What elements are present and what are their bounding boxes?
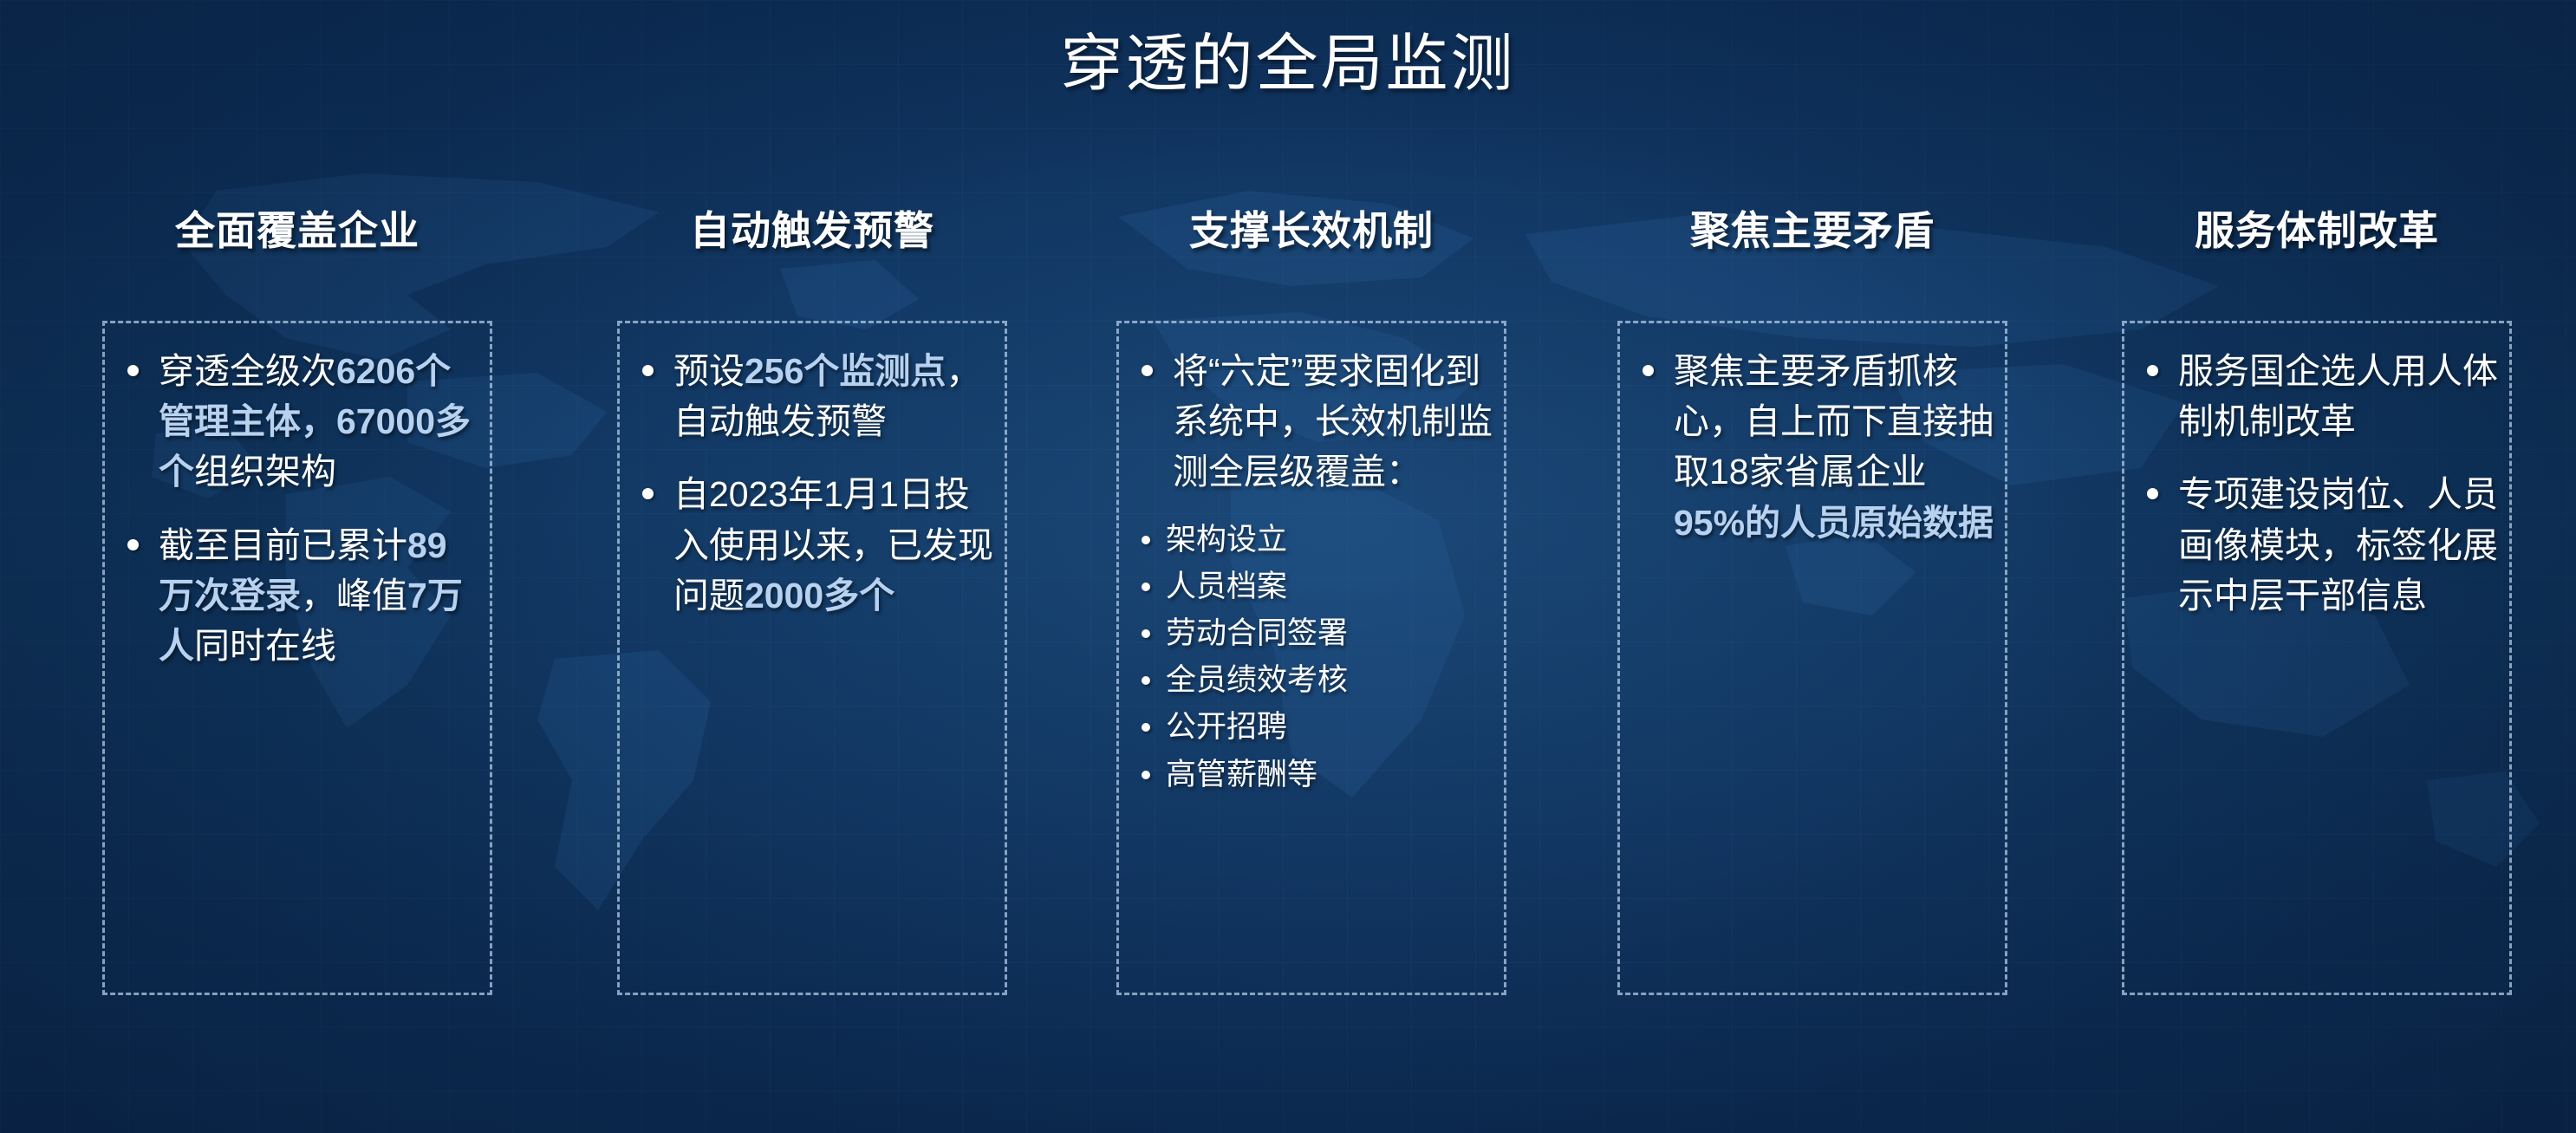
column-content-box: 穿透全级次6206个管理主体，67000多个组织架构 截至目前已累计89万次登录… — [102, 321, 492, 995]
list-item: 将“六定”要求固化到系统中，长效机制监测全层级覆盖： — [1128, 346, 1495, 498]
column-content-box: 预设256个监测点，自动触发预警 自2023年1月1日投入使用以来，已发现问题2… — [617, 321, 1007, 995]
list-item: 穿透全级次6206个管理主体，67000多个组织架构 — [114, 346, 481, 498]
list-item: 聚焦主要矛盾抓核心，自上而下直接抽取18家省属企业95%的人员原始数据 — [1629, 346, 1996, 548]
bullet-text: 专项建设岗位、人员画像模块，标签化展示中层干部信息 — [2178, 474, 2498, 615]
list-item: 预设256个监测点，自动触发预警 — [628, 346, 996, 446]
bullet-text: 服务国企选人用人体制机制改革 — [2178, 351, 2498, 441]
column-header: 支撑长效机制 — [1116, 199, 1506, 257]
sub-list-item: 公开招聘 — [1128, 707, 1495, 747]
bullet-text: 预设256个监测点，自动触发预警 — [673, 351, 981, 441]
bullet-text: 将“六定”要求固化到系统中，长效机制监测全层级覆盖： — [1173, 351, 1493, 492]
column-header: 聚焦主要矛盾 — [1617, 199, 2007, 257]
list-item: 专项建设岗位、人员画像模块，标签化展示中层干部信息 — [2133, 469, 2501, 621]
bullet-text: 穿透全级次6206个管理主体，67000多个组织架构 — [159, 351, 471, 492]
column-content-box: 服务国企选人用人体制机制改革 专项建设岗位、人员画像模块，标签化展示中层干部信息 — [2122, 321, 2512, 995]
sub-list-item: 全员绩效考核 — [1128, 661, 1495, 700]
sub-list-item: 高管薪酬等 — [1128, 755, 1495, 795]
bullet-text: 截至目前已累计89万次登录，峰值7万人同时在线 — [159, 525, 463, 666]
list-item: 自2023年1月1日投入使用以来，已发现问题2000多个 — [628, 469, 996, 621]
bullet-text: 聚焦主要矛盾抓核心，自上而下直接抽取18家省属企业95%的人员原始数据 — [1674, 351, 1994, 543]
column-zidong-chufa-yujing: 自动触发预警 预设256个监测点，自动触发预警 自2023年1月1日投入使用以来… — [617, 199, 1007, 257]
column-content-box: 将“六定”要求固化到系统中，长效机制监测全层级覆盖： 架构设立人员档案劳动合同签… — [1116, 321, 1506, 995]
sub-list-item: 人员档案 — [1128, 567, 1495, 607]
bullet-list: 服务国企选人用人体制机制改革 专项建设岗位、人员画像模块，标签化展示中层干部信息 — [2133, 346, 2501, 621]
list-item: 服务国企选人用人体制机制改革 — [2133, 346, 2501, 446]
bullet-list: 穿透全级次6206个管理主体，67000多个组织架构 截至目前已累计89万次登录… — [114, 346, 481, 671]
list-item: 截至目前已累计89万次登录，峰值7万人同时在线 — [114, 520, 481, 672]
bullet-list: 预设256个监测点，自动触发预警 自2023年1月1日投入使用以来，已发现问题2… — [628, 346, 996, 621]
column-zhicheng-changxiao-jizhi: 支撑长效机制 将“六定”要求固化到系统中，长效机制监测全层级覆盖： 架构设立人员… — [1116, 199, 1506, 257]
column-content-box: 聚焦主要矛盾抓核心，自上而下直接抽取18家省属企业95%的人员原始数据 — [1617, 321, 2007, 995]
slide-root: 穿透的全局监测 全面覆盖企业 穿透全级次6206个管理主体，67000多个组织架… — [0, 0, 2576, 1133]
bullet-text: 自2023年1月1日投入使用以来，已发现问题2000多个 — [673, 474, 993, 615]
page-title: 穿透的全局监测 — [0, 33, 2576, 95]
sub-list-item: 架构设立 — [1128, 520, 1495, 560]
sub-bullet-list: 架构设立人员档案劳动合同签署全员绩效考核公开招聘高管薪酬等 — [1128, 520, 1495, 795]
column-header: 全面覆盖企业 — [102, 199, 492, 257]
bullet-list: 将“六定”要求固化到系统中，长效机制监测全层级覆盖： — [1128, 346, 1495, 498]
column-header: 自动触发预警 — [617, 199, 1007, 257]
column-jujiao-zhuyao-maodun: 聚焦主要矛盾 聚焦主要矛盾抓核心，自上而下直接抽取18家省属企业95%的人员原始… — [1617, 199, 2007, 257]
column-fuwu-tizhi-gaige: 服务体制改革 服务国企选人用人体制机制改革 专项建设岗位、人员画像模块，标签化展… — [2122, 199, 2512, 257]
sub-list-item: 劳动合同签署 — [1128, 614, 1495, 654]
column-quanmian-fugai-qiye: 全面覆盖企业 穿透全级次6206个管理主体，67000多个组织架构 截至目前已累… — [102, 199, 492, 257]
column-header: 服务体制改革 — [2122, 199, 2512, 257]
bullet-list: 聚焦主要矛盾抓核心，自上而下直接抽取18家省属企业95%的人员原始数据 — [1629, 346, 1996, 548]
